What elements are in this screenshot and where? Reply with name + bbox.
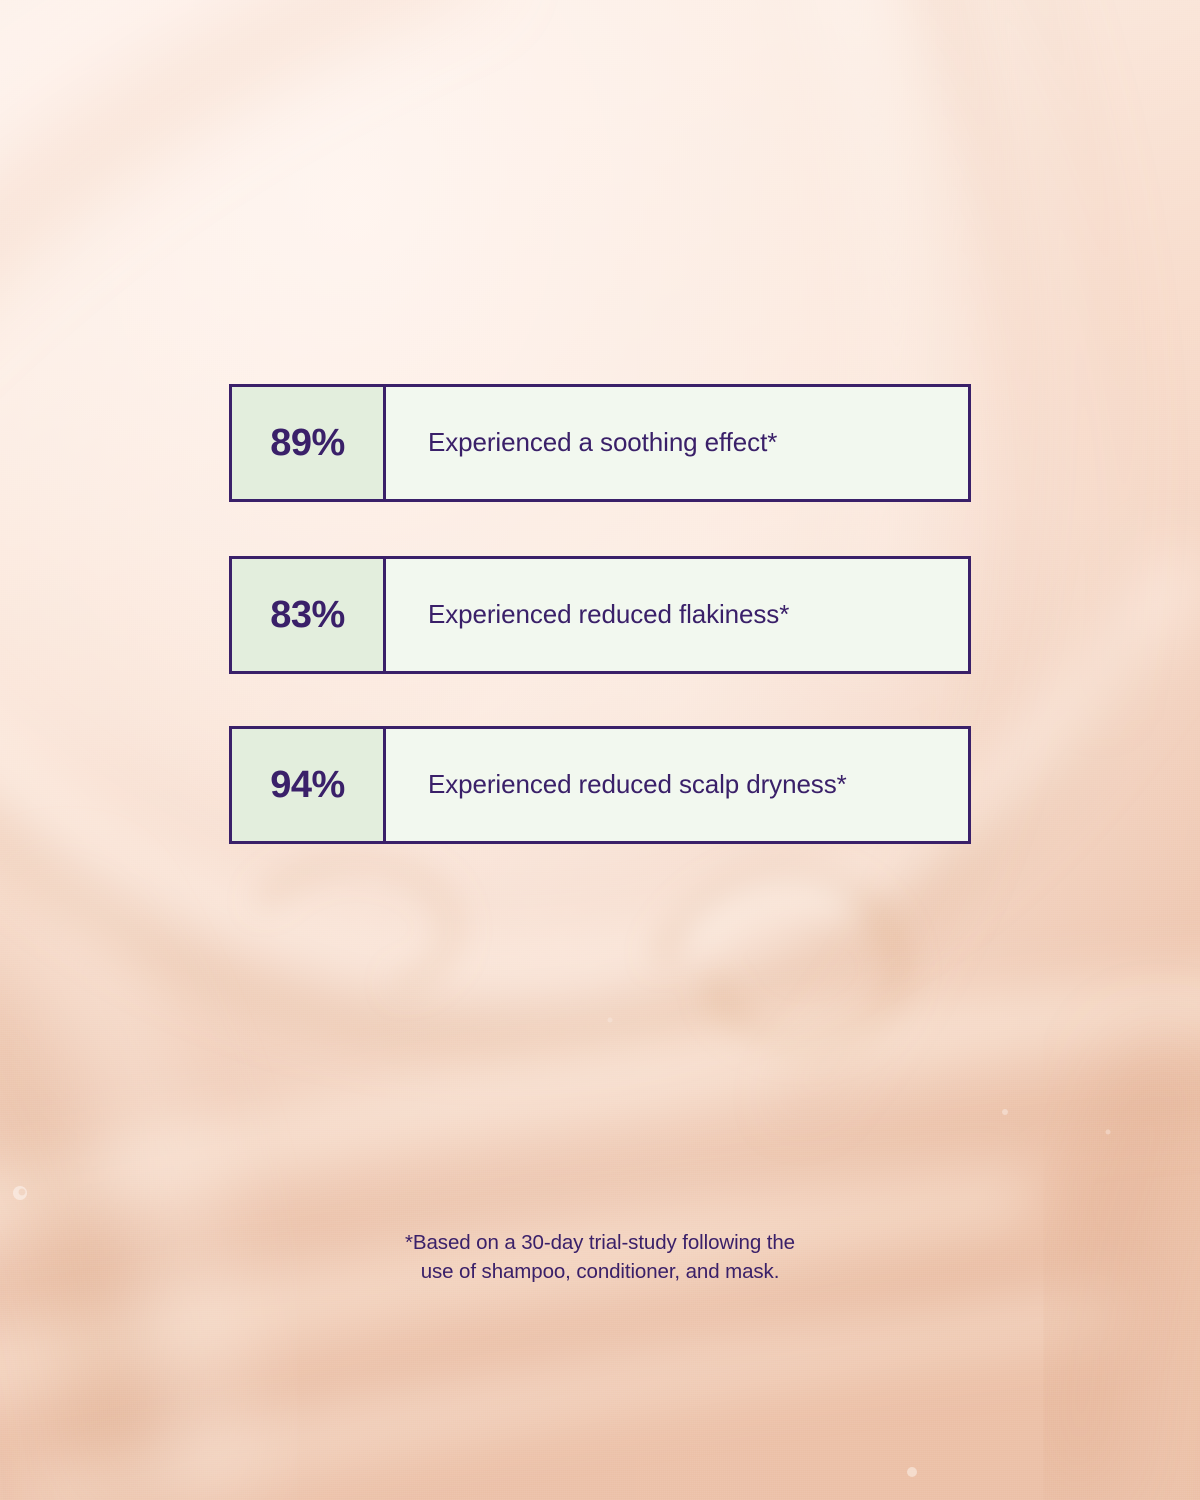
stat-label-text: Experienced reduced flakiness* (428, 599, 789, 630)
footnote-line-2: use of shampoo, conditioner, and mask. (0, 1257, 1200, 1286)
stat-percent-value: 89% (270, 424, 345, 462)
stats-content: 89% Experienced a soothing effect* 83% E… (0, 0, 1200, 1500)
stat-label-cell: Experienced reduced scalp dryness* (386, 729, 968, 841)
footnote: *Based on a 30-day trial-study following… (0, 1228, 1200, 1286)
stat-label-text: Experienced a soothing effect* (428, 427, 777, 458)
stat-row: 83% Experienced reduced flakiness* (229, 556, 971, 674)
stat-row: 89% Experienced a soothing effect* (229, 384, 971, 502)
stat-row: 94% Experienced reduced scalp dryness* (229, 726, 971, 844)
stat-label-cell: Experienced a soothing effect* (386, 387, 968, 499)
stat-percent-cell: 83% (232, 559, 386, 671)
stat-label-cell: Experienced reduced flakiness* (386, 559, 968, 671)
stat-label-text: Experienced reduced scalp dryness* (428, 769, 847, 800)
footnote-line-1: *Based on a 30-day trial-study following… (0, 1228, 1200, 1257)
stat-percent-value: 94% (270, 766, 345, 804)
stat-percent-cell: 94% (232, 729, 386, 841)
stat-percent-value: 83% (270, 596, 345, 634)
stat-percent-cell: 89% (232, 387, 386, 499)
